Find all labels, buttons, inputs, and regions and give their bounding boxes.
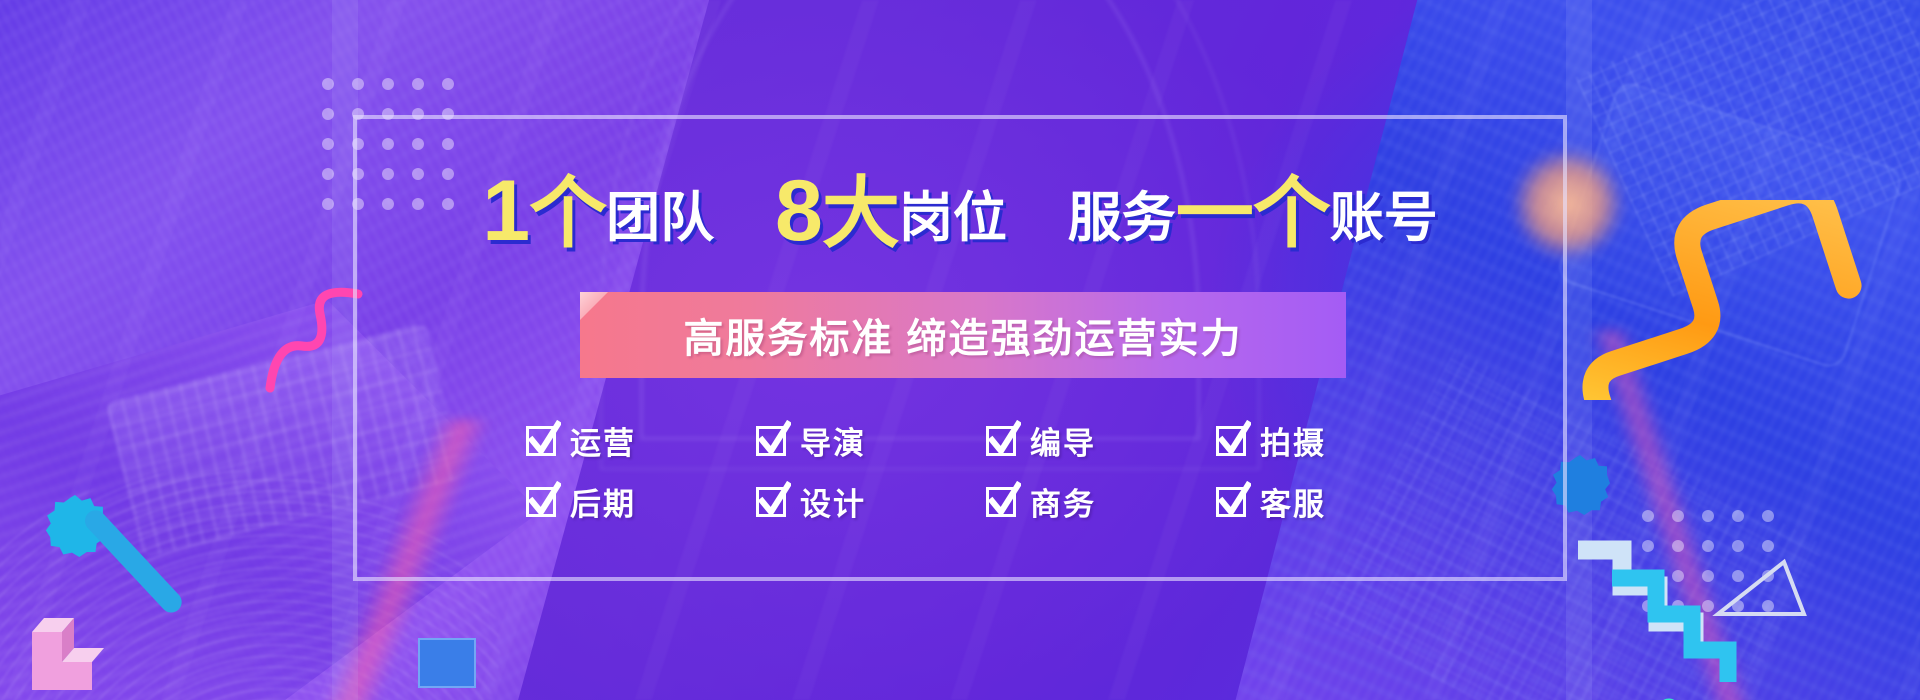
checklist-item[interactable]: 后期 [526, 479, 704, 524]
headline-word-service: 服务 [1068, 188, 1176, 248]
checklist-row-1: 运营 导演 编导 拍摄 [0, 418, 1920, 463]
checklist-label: 导演 [800, 418, 866, 463]
checkbox-checked-icon[interactable] [1216, 487, 1246, 517]
headline-unit-1: 个 [529, 169, 606, 257]
headline-count-1: 1 [482, 163, 529, 259]
headline-word-positions: 岗位 [899, 188, 1007, 248]
checklist-item[interactable]: 商务 [986, 479, 1164, 524]
checklist-label: 客服 [1260, 479, 1326, 524]
subtitle-text: 高服务标准 缔造强劲运营实力 [683, 306, 1242, 364]
checkbox-checked-icon[interactable] [1216, 426, 1246, 456]
headline-group-account: 服务一个账号 [1068, 174, 1438, 252]
checkbox-checked-icon[interactable] [756, 487, 786, 517]
checklist-label: 商务 [1030, 479, 1096, 524]
checklist: 运营 导演 编导 拍摄 [0, 418, 1920, 540]
headline-unit-8: 大 [822, 169, 899, 257]
checklist-label: 编导 [1030, 418, 1096, 463]
checklist-item[interactable]: 导演 [756, 418, 934, 463]
checklist-item[interactable]: 拍摄 [1216, 418, 1394, 463]
checklist-item[interactable]: 编导 [986, 418, 1164, 463]
headline-group-team: 1个团队 [482, 168, 714, 254]
checkbox-checked-icon[interactable] [756, 426, 786, 456]
checklist-label: 后期 [570, 479, 636, 524]
headline-word-team: 团队 [606, 188, 714, 248]
checklist-label: 拍摄 [1260, 418, 1326, 463]
checklist-row-2: 后期 设计 商务 客服 [0, 479, 1920, 524]
checklist-item[interactable]: 设计 [756, 479, 934, 524]
checklist-label: 设计 [800, 479, 866, 524]
promo-banner: 1个团队 8大岗位 服务一个账号 高服务标准 缔造强劲运营实力 运营 [0, 0, 1920, 700]
checkbox-checked-icon[interactable] [526, 426, 556, 456]
checkbox-checked-icon[interactable] [986, 487, 1016, 517]
headline-word-account: 账号 [1330, 188, 1438, 248]
headline: 1个团队 8大岗位 服务一个账号 [0, 168, 1920, 254]
headline-word-one: 一个 [1176, 169, 1330, 257]
checklist-item[interactable]: 运营 [526, 418, 704, 463]
ribbon-fold-corner-icon [580, 292, 608, 320]
headline-count-8: 8 [775, 163, 822, 259]
checklist-item[interactable]: 客服 [1216, 479, 1394, 524]
checklist-label: 运营 [570, 418, 636, 463]
banner-content: 1个团队 8大岗位 服务一个账号 高服务标准 缔造强劲运营实力 运营 [0, 0, 1920, 700]
headline-group-roles: 8大岗位 [775, 168, 1007, 254]
checkbox-checked-icon[interactable] [526, 487, 556, 517]
checkbox-checked-icon[interactable] [986, 426, 1016, 456]
subtitle-ribbon: 高服务标准 缔造强劲运营实力 [580, 292, 1346, 378]
